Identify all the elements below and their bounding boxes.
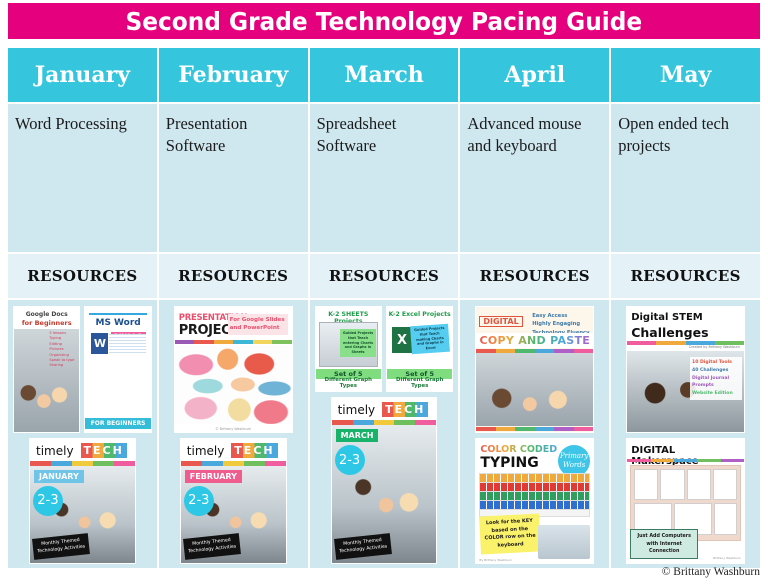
thumb-sub-2: Guided Projects that Teach making Charts…: [410, 324, 450, 354]
column-may: May Open ended tech projects RESOURCES D…: [611, 48, 760, 568]
thumb-sub-1: Brittany Washburn: [713, 556, 741, 560]
thumb-title-line2: TECH: [231, 443, 277, 458]
thumb-row-1: Google Docs for Beginners 5 lessons Typi…: [13, 306, 152, 433]
month-header-march: March: [310, 48, 459, 102]
thumb-sub-1: and PowerPoint: [230, 324, 286, 332]
thumb-title-line2: TYPING: [480, 455, 538, 471]
thumb-title-text: COLOR CODED: [480, 444, 557, 455]
month-header-january: January: [8, 48, 157, 102]
thumbnails-april: DIGITAL Easy Access Highly Engaging Tech…: [460, 300, 609, 568]
thumb-row-1: Digital STEM Challenges Created by Britt…: [616, 306, 755, 433]
thumb-photo: [476, 353, 593, 426]
pacing-guide-page: Second Grade Technology Pacing Guide Jan…: [0, 0, 768, 585]
thumb-sub-2: © Brittany Washburn: [175, 427, 292, 431]
resources-label-may: RESOURCES: [611, 254, 760, 298]
month-header-april: April: [460, 48, 609, 102]
thumb-caption: Look for the KEY based on the COLOR row …: [479, 513, 541, 554]
thumb-title-line1: Google Docs: [14, 312, 79, 318]
month-header-february: February: [159, 48, 308, 102]
thumb-sub-2: 40 Challenges: [692, 367, 740, 375]
thumbnail-timely-tech-january[interactable]: timely TECH JANUARY 2-3 Monthly Themed T…: [29, 438, 136, 565]
thumb-title-line1: DIGITAL: [479, 316, 522, 327]
page-title-bar: Second Grade Technology Pacing Guide: [8, 3, 760, 39]
thumb-title-line1: DIGITAL Makerspace: [631, 445, 740, 467]
thumb-sub-1: Highly Engaging: [532, 320, 590, 328]
thumb-title-line1: COLOR CODED: [480, 444, 557, 455]
thumbnail-presentation-projects[interactable]: PRESENTATION PROJECTS For Google Slides …: [174, 306, 293, 433]
thumb-month-badge: JANUARY: [34, 470, 84, 483]
thumbnails-may: Digital STEM Challenges Created by Britt…: [611, 300, 760, 568]
thumb-title-line1: timely: [36, 444, 74, 458]
thumb-title-text: Digital STEM: [631, 312, 703, 323]
thumb-sub-0: For Google Slides: [230, 316, 286, 324]
pacing-guide-table: January Word Processing RESOURCES Google…: [8, 48, 760, 568]
thumb-photo: [538, 525, 590, 559]
thumb-sub-2: By Brittany Washburn: [479, 558, 512, 562]
thumb-row-2: COLOR CODED TYPING Primary Words Look fo…: [465, 438, 604, 565]
thumb-grade-badge: 2-3: [33, 486, 63, 516]
column-march: March Spreadsheet Software RESOURCES K-2…: [310, 48, 459, 568]
resources-label-february: RESOURCES: [159, 254, 308, 298]
topic-april: Advanced mouse and keyboard: [460, 104, 609, 252]
thumb-sub-1: Different Graph Types: [316, 377, 381, 389]
column-january: January Word Processing RESOURCES Google…: [8, 48, 157, 568]
thumbnails-march: K-2 SHEETS Projects Guided Projects that…: [310, 300, 459, 568]
word-logo-icon: W: [91, 333, 108, 354]
thumb-row-2: timely TECH MARCH 2-3 Monthly Themed Tec…: [315, 397, 454, 564]
thumb-title-line1: timely: [187, 444, 225, 458]
thumb-sub-3: Digital Journal Prompts: [692, 375, 740, 391]
thumb-row-1: PRESENTATION PROJECTS For Google Slides …: [164, 306, 303, 433]
thumb-row-2: DIGITAL Makerspace: [616, 438, 755, 565]
thumbnail-color-coded-typing[interactable]: COLOR CODED TYPING Primary Words Look fo…: [475, 438, 594, 565]
resources-label-march: RESOURCES: [310, 254, 459, 298]
thumb-sub-4: Website Edition: [692, 390, 740, 398]
column-april: April Advanced mouse and keyboard RESOUR…: [460, 48, 609, 568]
thumbnail-k2-excel-projects[interactable]: K-2 Excel Projects X Guided Projects tha…: [386, 306, 453, 392]
rainbow-divider-bottom: [476, 427, 593, 431]
footer-credit: © Brittany Washburn: [662, 566, 760, 578]
topic-march: Spreadsheet Software: [310, 104, 459, 252]
thumb-month-badge: FEBRUARY: [185, 470, 242, 483]
thumb-title-line1: K-2 Excel Projects: [388, 311, 451, 318]
excel-logo-icon: X: [392, 327, 412, 353]
thumb-grade-badge: 2-3: [335, 445, 365, 475]
thumbnail-ms-word-skills[interactable]: MS Word SKILLS W FOR BEGINNERS: [84, 306, 151, 433]
thumbnails-january: Google Docs for Beginners 5 lessons Typi…: [8, 300, 157, 568]
thumbnail-digital-makerspace[interactable]: DIGITAL Makerspace: [626, 438, 745, 565]
thumbnail-digital-stem-challenges[interactable]: Digital STEM Challenges Created by Britt…: [626, 306, 745, 433]
thumb-sub-0: Easy Access: [532, 312, 590, 320]
rainbow-divider: [175, 340, 292, 344]
thumb-sub-1: 10 Digital Tools: [692, 359, 740, 367]
thumb-caption: Just Add Computers with Internet Connect…: [630, 529, 698, 559]
thumb-title-line2: COPY AND PASTE: [479, 334, 590, 347]
rainbow-divider: [627, 459, 744, 462]
thumb-sub-list: 5 lessons Typing Editing Pictures Organi…: [49, 331, 77, 369]
thumb-sub-2: Guided Projects that Teach entering Char…: [340, 329, 376, 357]
thumb-month-badge: MARCH: [336, 429, 379, 442]
thumbnail-digital-copy-and-paste[interactable]: DIGITAL Easy Access Highly Engaging Tech…: [475, 306, 594, 433]
thumb-title-line2: Challenges: [631, 325, 708, 340]
thumb-sub-0: Created by Brittany Washburn: [627, 345, 744, 349]
thumb-sub-0: FOR BEGINNERS: [85, 418, 150, 429]
month-header-may: May: [611, 48, 760, 102]
column-february: February Presentation Software RESOURCES…: [159, 48, 308, 568]
thumb-sub-6: Sharing: [49, 363, 77, 368]
thumb-title-line2: TECH: [81, 443, 127, 458]
thumb-photo: [175, 345, 292, 424]
thumb-title-line1: timely: [338, 403, 376, 417]
thumbnail-timely-tech-february[interactable]: timely TECH FEBRUARY 2-3 Monthly Themed …: [180, 438, 287, 565]
thumbnails-february: PRESENTATION PROJECTS For Google Slides …: [159, 300, 308, 568]
thumb-sub-1: Different Graph Types: [387, 377, 452, 389]
thumb-title-line2: TECH: [382, 402, 428, 417]
resources-label-april: RESOURCES: [460, 254, 609, 298]
thumb-row-1: DIGITAL Easy Access Highly Engaging Tech…: [465, 306, 604, 433]
topic-january: Word Processing: [8, 104, 157, 252]
thumb-row-1: K-2 SHEETS Projects Guided Projects that…: [315, 306, 454, 392]
thumb-subtitle: For Google Slides and PowerPoint: [228, 314, 288, 335]
resources-label-january: RESOURCES: [8, 254, 157, 298]
thumb-title-line1: MS Word: [85, 319, 150, 328]
page-title: Second Grade Technology Pacing Guide: [126, 7, 643, 36]
thumbnail-k2-sheets-projects[interactable]: K-2 SHEETS Projects Guided Projects that…: [315, 306, 382, 392]
topic-may: Open ended tech projects: [611, 104, 760, 252]
thumb-title-line2: for Beginners: [14, 320, 79, 327]
topic-february: Presentation Software: [159, 104, 308, 252]
thumb-feature-list: 10 Digital Tools 40 Challenges Digital J…: [690, 357, 742, 400]
thumbnail-timely-tech-march[interactable]: timely TECH MARCH 2-3 Monthly Themed Tec…: [331, 397, 438, 564]
thumb-row-2: timely TECH JANUARY 2-3 Monthly Themed T…: [13, 438, 152, 565]
thumb-title-line1: Digital STEM: [631, 312, 703, 323]
thumb-grade-badge: 2-3: [184, 486, 214, 516]
thumb-row-2: timely TECH FEBRUARY 2-3 Monthly Themed …: [164, 438, 303, 565]
thumbnail-google-docs-for-beginners[interactable]: Google Docs for Beginners 5 lessons Typi…: [13, 306, 80, 433]
